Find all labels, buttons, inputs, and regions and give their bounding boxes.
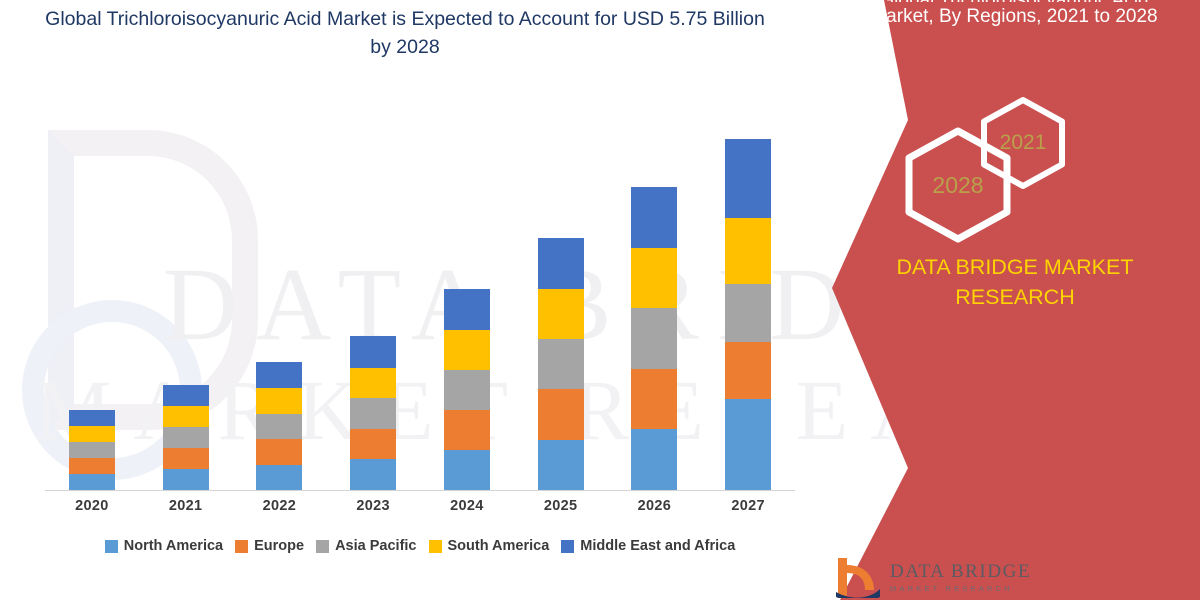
bar-segment[interactable] [69,426,115,442]
legend-label: Middle East and Africa [580,538,735,554]
bar-segment[interactable] [163,448,209,469]
bar-segment[interactable] [631,308,677,369]
bar-segment[interactable] [256,388,302,413]
bar-segment[interactable] [69,442,115,458]
bar-segment[interactable] [631,429,677,490]
legend-label: South America [448,538,550,554]
bar-group[interactable] [163,95,209,490]
legend-item[interactable]: North America [105,538,223,554]
bar-segment[interactable] [69,458,115,474]
legend-swatch-icon [429,540,442,553]
bar-segment[interactable] [256,362,302,388]
legend-item[interactable]: Europe [235,538,304,554]
footer-logo-sub: MARKET RESEARCH [890,584,1031,593]
brand-line-1: DATA BRIDGE MARKET [830,252,1200,282]
bar-segment[interactable] [631,369,677,430]
bar-segment[interactable] [538,389,584,439]
chart-panel: Global Trichloroisocyanuric Acid Market … [0,0,900,600]
bar-group[interactable] [631,95,677,490]
bar-segment[interactable] [444,370,490,410]
x-axis-label: 2026 [631,498,677,514]
bar-segment[interactable] [350,368,396,399]
bar-segment[interactable] [256,414,302,439]
chart-plot-area [45,95,795,491]
bar-group[interactable] [350,95,396,490]
x-axis-label: 2022 [256,498,302,514]
x-axis-label: 2027 [725,498,771,514]
bar-segment[interactable] [163,427,209,448]
bar-segment[interactable] [69,474,115,490]
brand-text: DATA BRIDGE MARKET RESEARCH [800,252,1200,312]
bar-segment[interactable] [256,439,302,464]
bar-segment[interactable] [725,139,771,218]
x-axis-label: 2023 [350,498,396,514]
right-panel-title-line: Market, By Regions, 2021 to 2028 [870,6,1157,27]
legend-label: Europe [254,538,304,554]
bar-segment[interactable] [163,385,209,406]
x-axis-label: 2021 [163,498,209,514]
bar-segment[interactable] [256,465,302,490]
bar-segment[interactable] [163,406,209,427]
bar-segment[interactable] [725,342,771,399]
bar-segment[interactable] [350,459,396,490]
bar-segment[interactable] [163,469,209,490]
bar-segment[interactable] [538,289,584,339]
brand-line-2: RESEARCH [830,282,1200,312]
bar-segment[interactable] [350,398,396,429]
footer-logo-main: DATA BRIDGE [890,561,1031,583]
bar-segment[interactable] [350,429,396,460]
bar-segment[interactable] [538,440,584,490]
hexagon-badge-2021: 2021 [975,95,1071,191]
legend-swatch-icon [235,540,248,553]
bar-segment[interactable] [631,248,677,309]
footer-logo-texts: DATA BRIDGE MARKET RESEARCH [890,561,1031,593]
bar-segment[interactable] [444,450,490,490]
x-axis-label: 2025 [538,498,584,514]
bar-segment[interactable] [538,339,584,389]
bar-segment[interactable] [444,289,490,330]
bar-segment[interactable] [69,410,115,426]
bar-group[interactable] [538,95,584,490]
legend-label: Asia Pacific [335,538,416,554]
chart-legend: North AmericaEuropeAsia PacificSouth Ame… [40,538,800,554]
bar-segment[interactable] [538,238,584,289]
x-axis-label: 2020 [69,498,115,514]
footer-logo: DATA BRIDGE MARKET RESEARCH [836,556,1031,598]
bar-group[interactable] [725,95,771,490]
x-axis-label: 2024 [444,498,490,514]
legend-swatch-icon [561,540,574,553]
bar-group[interactable] [256,95,302,490]
x-axis-labels: 20202021202220232024202520262027 [45,498,795,514]
bar-segment[interactable] [444,330,490,370]
legend-label: North America [124,538,223,554]
chart-title: Global Trichloroisocyanuric Acid Market … [40,5,770,61]
bar-segment[interactable] [725,218,771,284]
infographic-root: DATA BRIDGE MARKET RESEARCH Global Trich… [0,0,1200,600]
bar-segment[interactable] [350,336,396,367]
bar-segment[interactable] [444,410,490,450]
hexagon-label-2021: 2021 [1000,131,1047,155]
legend-item[interactable]: Middle East and Africa [561,538,735,554]
bar-segment[interactable] [631,187,677,248]
x-axis-line [45,490,795,491]
legend-item[interactable]: South America [429,538,550,554]
bridge-logo-icon [836,556,880,598]
stacked-bars-container [45,95,795,490]
bar-segment[interactable] [725,399,771,490]
legend-swatch-icon [105,540,118,553]
bar-group[interactable] [444,95,490,490]
legend-item[interactable]: Asia Pacific [316,538,416,554]
legend-swatch-icon [316,540,329,553]
bar-group[interactable] [69,95,115,490]
bar-segment[interactable] [725,284,771,341]
right-panel-title-clipped: Global Trichloroisocyanuric Acid [838,0,1190,2]
